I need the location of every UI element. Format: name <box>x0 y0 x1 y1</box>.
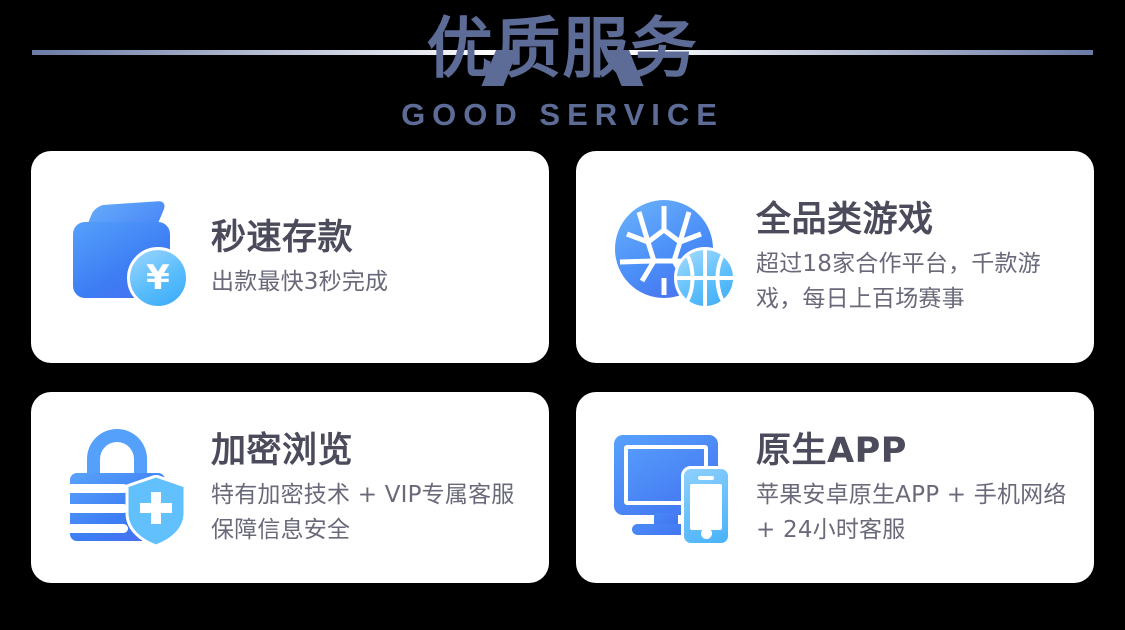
wallet-yen-icon: ¥ <box>65 195 197 320</box>
service-card-description: 苹果安卓原生APP + 手机网络 + 24小时客服 <box>756 478 1080 548</box>
service-card-title: 全品类游戏 <box>756 197 1080 243</box>
soccer-basketball-icon <box>610 195 742 320</box>
service-card-native-app[interactable]: 原生APP 苹果安卓原生APP + 手机网络 + 24小时客服 <box>576 392 1094 583</box>
service-card-encryption[interactable]: 加密浏览 特有加密技术 + VIP专属客服保障信息安全 <box>31 392 549 583</box>
service-card-description: 出款最快3秒完成 <box>211 265 535 300</box>
page-title: 优质服务 <box>0 6 1125 92</box>
phone-icon <box>681 466 731 546</box>
phone-screen-shape <box>690 484 722 530</box>
service-card-games[interactable]: 全品类游戏 超过18家合作平台，千款游戏，每日上百场赛事 <box>576 151 1094 363</box>
service-card-deposit[interactable]: ¥ 秒速存款 出款最快3秒完成 <box>31 151 549 363</box>
lock-stripe <box>70 484 128 493</box>
lock-stripe <box>70 524 128 533</box>
service-card-title: 秒速存款 <box>211 215 535 261</box>
service-card-text: 加密浏览 特有加密技术 + VIP专属客服保障信息安全 <box>211 428 549 548</box>
page-subtitle: GOOD SERVICE <box>0 97 1125 133</box>
phone-speaker-shape <box>698 476 714 480</box>
service-card-grid: ¥ 秒速存款 出款最快3秒完成 <box>31 151 1094 583</box>
yen-coin-icon: ¥ <box>127 247 189 309</box>
phone-home-button <box>701 528 712 539</box>
service-card-description: 超过18家合作平台，千款游戏，每日上百场赛事 <box>756 247 1080 317</box>
shield-plus-icon <box>125 475 187 547</box>
service-card-title: 原生APP <box>756 428 1080 474</box>
service-card-title: 加密浏览 <box>211 428 535 474</box>
service-card-text: 秒速存款 出款最快3秒完成 <box>211 215 549 300</box>
lock-shield-icon <box>65 425 197 550</box>
page-header: 优质服务 GOOD SERVICE <box>0 0 1125 142</box>
lock-stripe <box>70 504 128 513</box>
service-card-text: 原生APP 苹果安卓原生APP + 手机网络 + 24小时客服 <box>756 428 1094 548</box>
monitor-phone-icon <box>610 425 742 550</box>
basketball-icon <box>674 247 736 309</box>
service-card-text: 全品类游戏 超过18家合作平台，千款游戏，每日上百场赛事 <box>756 197 1094 317</box>
service-card-description: 特有加密技术 + VIP专属客服保障信息安全 <box>211 478 535 548</box>
